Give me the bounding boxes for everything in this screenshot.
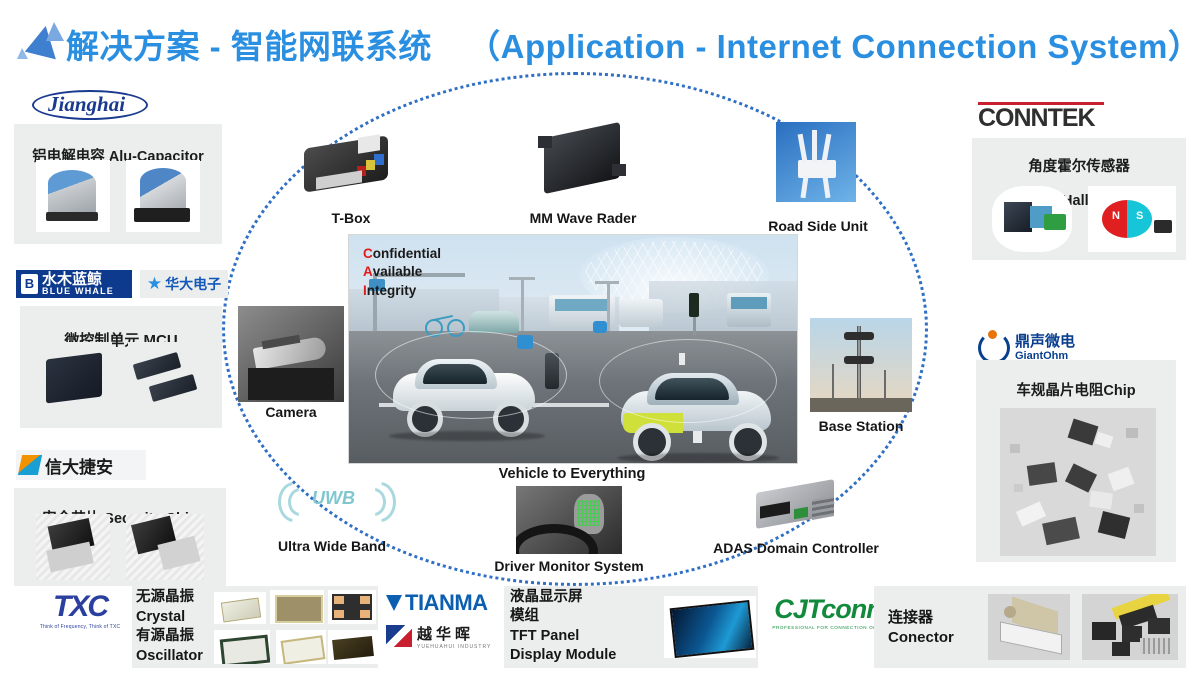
base-station-photo — [810, 318, 912, 412]
slide-header: 解决方案 - 智能网联系统 （Application - Internet Co… — [0, 0, 1200, 82]
cia-rest-integrity: ntegrity — [367, 283, 417, 298]
tft-line-2: TFT Panel — [510, 627, 670, 646]
xindajiean-logo: 信大捷安 — [16, 450, 146, 480]
cia-overlay: Confidential Available Integrity — [363, 245, 441, 300]
triangle-logo-secondary — [46, 22, 64, 41]
crystal-photo-3 — [328, 590, 376, 624]
t-box-label: T-Box — [296, 210, 406, 226]
hall-magnet-photo: N S — [1088, 186, 1176, 252]
chip-resistor-title-cn: 车规晶片电阻Chip — [1016, 383, 1135, 399]
cia-initial-a: A — [363, 264, 373, 279]
ultra-wide-band-label: Ultra Wide Band — [258, 538, 406, 554]
txc-logo: TXC Think of Frequency, Think of TXC — [22, 588, 138, 632]
triangle-logo — [16, 18, 68, 64]
crystal-line-2: 有源晶振 — [136, 627, 220, 647]
alu-capacitor-photo-2 — [126, 160, 200, 232]
conntek-logo: CONNTEK — [978, 104, 1108, 132]
cjt-logo-text: CJTconn — [774, 594, 882, 625]
security-chip-photo-2 — [126, 514, 204, 580]
cia-line-integrity: Integrity — [363, 282, 441, 300]
angle-hall-title-cn: 角度霍尔传感器 — [1028, 159, 1130, 175]
txc-logo-tagline: Think of Frequency, Think of TXC — [40, 624, 121, 630]
uwb-waves-icon: UWB — [276, 478, 392, 520]
tianma-logo-text: TIANMA — [405, 590, 488, 616]
mm-wave-rader-photo — [528, 118, 638, 202]
triangle-logo-small — [17, 48, 28, 59]
road-side-unit-photo — [776, 122, 856, 202]
giantohm-logo-cn: 鼎声微电 — [1015, 334, 1075, 351]
xindajiean-logo-mark — [18, 455, 42, 475]
blue-whale-logo-mark: B — [21, 274, 38, 294]
tft-line-0: 液晶显示屏 — [510, 588, 670, 607]
slide-canvas: 解决方案 - 智能网联系统 （Application - Internet Co… — [0, 0, 1200, 674]
conntek-logo-text: CONNTEK — [978, 104, 1095, 133]
cia-rest-available: vailable — [373, 264, 423, 279]
connector-line-1: Conector — [888, 628, 998, 648]
base-station-label: Base Station — [800, 418, 922, 434]
alu-capacitor-photo-1 — [36, 160, 110, 232]
crystal-line-0: 无源晶振 — [136, 588, 220, 608]
mcu-photo-2 — [128, 342, 204, 414]
tianma-logo: TIANMA — [386, 590, 510, 616]
crystal-line-3: Oscillator — [136, 647, 220, 667]
tft-panel-photo — [664, 596, 756, 658]
tft-line-3: Display Module — [510, 646, 670, 665]
yuehuahui-logo-cn: 越华晖 — [417, 623, 491, 644]
yuehuahui-logo: 越华晖 YUEHUAHUI INDUSTRY — [386, 620, 510, 652]
connector-lines: 连接器 Conector — [888, 608, 998, 648]
huada-logo: ★ 华大电子 — [140, 270, 228, 298]
cjt-logo-tagline: PROFESSIONAL FOR CONNECTION ONLY — [772, 625, 883, 630]
connector-photo-2 — [1082, 594, 1178, 660]
cia-line-available: Available — [363, 263, 441, 281]
road-side-unit-label: Road Side Unit — [756, 218, 880, 234]
crystal-line-1: Crystal — [136, 608, 220, 628]
crystal-photo-2 — [270, 590, 324, 624]
tft-line-1: 模组 — [510, 607, 670, 626]
tianma-logo-mark — [386, 595, 402, 611]
uwb-badge-label: UWB — [312, 488, 355, 509]
cjt-logo: CJTconn PROFESSIONAL FOR CONNECTION ONLY — [768, 592, 888, 632]
adas-controller-photo — [742, 478, 850, 540]
t-box-photo — [296, 130, 406, 200]
xindajiean-logo-text: 信大捷安 — [45, 453, 113, 478]
driver-monitor-photo — [516, 486, 622, 554]
cia-initial-c: C — [363, 246, 373, 261]
crystal-photo-1 — [214, 592, 266, 624]
jianghai-logo: Jianghai — [18, 88, 158, 120]
page-title-en: （Application - Internet Connection Syste… — [467, 28, 1200, 65]
crystal-lines: 无源晶振 Crystal 有源晶振 Oscillator — [136, 588, 220, 667]
security-chip-photo-1 — [36, 514, 110, 580]
driver-monitor-label: Driver Monitor System — [484, 558, 654, 574]
yuehuahui-logo-sub: YUEHUAHUI INDUSTRY — [417, 644, 491, 650]
hall-sensor-motor-photo — [992, 186, 1072, 252]
conntek-logo-accent — [978, 102, 1104, 105]
camera-photo — [238, 306, 344, 402]
txc-logo-text: TXC — [53, 590, 107, 624]
mm-wave-rader-label: MM Wave Rader — [508, 210, 658, 226]
huada-star-icon: ★ — [147, 274, 162, 294]
tft-lines: 液晶显示屏 模组 TFT Panel Display Module — [510, 588, 670, 665]
yuehuahui-logo-mark — [386, 625, 412, 647]
magnet-pole-s-label: S — [1136, 210, 1143, 222]
camera-label: Camera — [238, 404, 344, 420]
oscillator-photo-1 — [214, 630, 270, 664]
huada-logo-text: 华大电子 — [165, 274, 221, 294]
adas-domain-controller-label: ADAS Domain Controller — [700, 540, 892, 556]
blue-whale-logo-cn: 水木蓝鲸 — [42, 272, 114, 287]
page-title: 解决方案 - 智能网联系统 （Application - Internet Co… — [66, 20, 1200, 68]
blue-whale-logo: B 水木蓝鲸 BLUE WHALE — [16, 270, 132, 298]
page-title-cn: 解决方案 - 智能网联系统 — [66, 28, 432, 65]
connector-photo-1 — [988, 594, 1070, 660]
oscillator-photo-2 — [276, 630, 326, 664]
chip-resistor-photo — [1000, 408, 1156, 556]
mcu-photo-1 — [36, 342, 112, 414]
cia-line-confidential: Confidential — [363, 245, 441, 263]
connector-line-0: 连接器 — [888, 608, 998, 628]
cia-rest-confidential: onfidential — [373, 246, 441, 261]
vehicle-to-everything-label: Vehicle to Everything — [448, 466, 696, 482]
oscillator-photo-3 — [328, 630, 378, 664]
blue-whale-logo-en: BLUE WHALE — [42, 287, 114, 296]
vehicle-to-everything-scene: Confidential Available Integrity — [348, 234, 798, 464]
magnet-pole-n-label: N — [1112, 210, 1120, 222]
jianghai-logo-text: Jianghai — [48, 92, 125, 117]
